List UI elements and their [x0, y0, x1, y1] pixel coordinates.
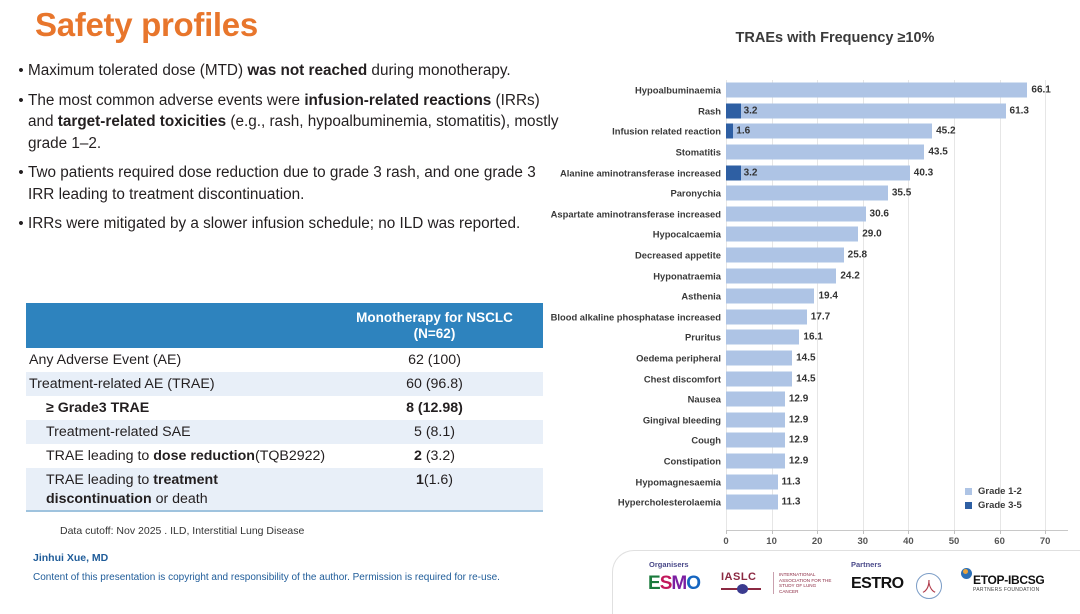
etop-wordmark: ETOP-IBCSG: [973, 573, 1044, 587]
chart-total-value-label: 25.8: [848, 250, 867, 261]
text-run: (1.6): [424, 472, 453, 488]
chart-legend-label: Grade 1-2: [978, 486, 1022, 497]
bullet-dot-icon: •: [14, 90, 28, 155]
chart-x-tick-label: 50: [949, 536, 960, 547]
text-run: Treatment-related SAE: [46, 424, 191, 440]
chart-grade35-value-label: 1.6: [736, 126, 750, 137]
bullet-dot-icon: •: [14, 162, 28, 205]
chart-x-tick-label: 30: [858, 536, 869, 547]
chart-plot-area: Hypoalbuminaemia66.1Rash3.261.3Infusion …: [600, 80, 1080, 530]
text-emphasis: 2: [414, 448, 422, 464]
chart-category-label: Hypoalbuminaemia: [635, 85, 721, 96]
chart-category-label: Constipation: [664, 455, 721, 466]
chart-x-tick-label: 70: [1040, 536, 1051, 547]
chart-bar-track: 24.2: [726, 265, 1080, 286]
chart-bar-row: Blood alkaline phosphatase increased17.7: [600, 307, 1080, 328]
chart-x-tick: [772, 530, 773, 534]
chart-stacked-bar[interactable]: [726, 289, 814, 304]
chart-bar-row: Chest discomfort14.5: [600, 368, 1080, 389]
chart-bar-segment-grade-1-2[interactable]: [726, 371, 792, 386]
chart-bar-row: Hypoalbuminaemia66.1: [600, 80, 1080, 101]
chart-bar-segment-grade-1-2[interactable]: [733, 124, 932, 139]
table-cell-label: Treatment-related SAE: [26, 424, 326, 440]
table-header-cell-monotherapy: Monotherapy for NSCLC (N=62): [326, 310, 543, 342]
chart-bar-track: 25.8: [726, 245, 1080, 266]
chart-bar-track: 35.5: [726, 183, 1080, 204]
chart-category-label: Hypomagnesaemia: [636, 476, 721, 487]
chart-stacked-bar[interactable]: [726, 371, 792, 386]
chart-x-tick: [1000, 530, 1001, 534]
chart-bar-track: 12.9: [726, 451, 1080, 472]
chart-stacked-bar[interactable]: [726, 124, 932, 139]
chart-bar-track: 11.3: [726, 492, 1080, 513]
chart-category-label: Hypocalcaemia: [653, 229, 721, 240]
chart-total-value-label: 17.7: [811, 311, 830, 322]
bullet-dot-icon: •: [14, 213, 28, 235]
table-cell-label: TRAE leading to dose reduction(TQB2922): [26, 448, 326, 464]
chart-stacked-bar[interactable]: [726, 453, 785, 468]
chart-total-value-label: 11.3: [782, 476, 801, 487]
chart-bar-row: Pruritus16.1: [600, 327, 1080, 348]
text-emphasis: dose reduction: [153, 448, 255, 464]
bullet-dot-icon: •: [14, 60, 28, 82]
chart-bar-row: Decreased appetite25.8: [600, 245, 1080, 266]
table-header-line2: (N=62): [326, 326, 543, 342]
esmo-logo: ESMO: [648, 573, 700, 595]
chart-stacked-bar[interactable]: [726, 474, 778, 489]
chart-total-value-label: 14.5: [796, 353, 815, 364]
table-cell-label: Treatment-related AE (TRAE): [26, 376, 326, 392]
chart-title: TRAEs with Frequency ≥10%: [600, 30, 1070, 46]
chart-total-value-label: 12.9: [789, 394, 808, 405]
text-run: The most common adverse events were: [28, 92, 304, 109]
chart-category-label: Pruritus: [685, 332, 721, 343]
table-cell-label: Any Adverse Event (AE): [26, 352, 326, 368]
chart-bar-track: 14.5: [726, 348, 1080, 369]
table-cell-label: TRAE leading to treatment discontinuatio…: [26, 471, 326, 509]
chart-stacked-bar[interactable]: [726, 309, 807, 324]
chart-bar-segment-grade-3-5[interactable]: [726, 165, 741, 180]
chart-bar-row: Paronychia35.5: [600, 183, 1080, 204]
chart-category-label: Hyponatraemia: [653, 270, 721, 281]
chart-total-value-label: 43.5: [928, 147, 947, 158]
chart-bar-segment-grade-1-2[interactable]: [726, 351, 792, 366]
chart-x-tick: [908, 530, 909, 534]
chart-total-value-label: 29.0: [862, 229, 881, 240]
etop-dot-icon: [961, 568, 972, 579]
chart-total-value-label: 12.9: [789, 435, 808, 446]
chart-x-tick: [954, 530, 955, 534]
partners-caption: Partners: [851, 560, 881, 569]
table-row: Treatment-related AE (TRAE)60 (96.8): [26, 372, 543, 396]
chart-stacked-bar[interactable]: [726, 412, 785, 427]
chart-legend: Grade 1-2Grade 3-5: [965, 486, 1022, 514]
chart-total-value-label: 19.4: [818, 291, 837, 302]
chart-bar-segment-grade-1-2[interactable]: [726, 206, 866, 221]
chart-x-tick-label: 20: [812, 536, 823, 547]
bullet-item: •The most common adverse events were inf…: [14, 90, 559, 155]
copyright-note: Content of this presentation is copyrigh…: [33, 572, 500, 583]
chart-bar-row: Oedema peripheral14.5: [600, 348, 1080, 369]
chart-bar-segment-grade-1-2[interactable]: [726, 289, 814, 304]
chart-x-tick: [863, 530, 864, 534]
text-run: Two patients required dose reduction due…: [28, 164, 536, 203]
chart-category-label: Cough: [691, 435, 721, 446]
data-cutoff-note: Data cutoff: Nov 2025 . ILD, Interstitia…: [60, 525, 304, 537]
chart-bar-row: Rash3.261.3: [600, 101, 1080, 122]
chart-bar-row: Nausea12.9: [600, 389, 1080, 410]
chart-category-label: Hypercholesterolaemia: [618, 497, 721, 508]
chart-bar-track: 11.3: [726, 471, 1080, 492]
chart-bar-row: Stomatitis43.5: [600, 142, 1080, 163]
table-body: Any Adverse Event (AE)62 (100)Treatment-…: [26, 348, 543, 510]
adverse-events-table: Monotherapy for NSCLC (N=62) Any Adverse…: [26, 303, 543, 512]
chart-bar-track: 30.6: [726, 204, 1080, 225]
chart-bar-row: Gingival bleeding12.9: [600, 410, 1080, 431]
chart-total-value-label: 11.3: [782, 497, 801, 508]
chart-stacked-bar[interactable]: [726, 83, 1027, 98]
chart-total-value-label: 61.3: [1010, 105, 1029, 116]
traes-chart-panel: TRAEs with Frequency ≥10% Hypoalbuminaem…: [600, 0, 1080, 614]
etop-subtitle: PARTNERS FOUNDATION: [973, 587, 1044, 593]
chart-total-value-label: 24.2: [840, 270, 859, 281]
text-run: Treatment-related AE (TRAE): [29, 376, 215, 392]
chart-bar-segment-grade-1-2[interactable]: [726, 412, 785, 427]
chart-category-label: Rash: [698, 105, 721, 116]
chart-bar-segment-grade-1-2[interactable]: [726, 227, 858, 242]
chart-bar-segment-grade-1-2[interactable]: [726, 433, 785, 448]
bullet-text: Maximum tolerated dose (MTD) was not rea…: [28, 60, 559, 82]
text-emphasis: target-related toxicities: [58, 113, 226, 130]
chart-stacked-bar[interactable]: [726, 227, 858, 242]
chart-bar-segment-grade-1-2[interactable]: [726, 474, 778, 489]
chart-bar-row: Infusion related reaction1.645.2: [600, 121, 1080, 142]
chart-total-value-label: 35.5: [892, 188, 911, 199]
chart-stacked-bar[interactable]: [726, 206, 866, 221]
chart-bar-segment-grade-1-2[interactable]: [726, 495, 778, 510]
chart-bar-row: Asthenia19.4: [600, 286, 1080, 307]
chart-category-label: Infusion related reaction: [612, 126, 721, 137]
chart-legend-item[interactable]: Grade 1-2: [965, 486, 1022, 497]
chart-bar-row: Alanine aminotransferase increased3.240.…: [600, 162, 1080, 183]
chart-bar-segment-grade-1-2[interactable]: [726, 309, 807, 324]
esmo-letter-m: M: [671, 573, 686, 594]
chart-stacked-bar[interactable]: [726, 433, 785, 448]
iaslc-logo: IASLC INTERNATIONAL ASSOCIATION FOR THE …: [721, 571, 761, 594]
author-name: Jinhui Xue, MD: [33, 552, 108, 564]
chart-bar-row: Aspartate aminotransferase increased30.6: [600, 204, 1080, 225]
esmo-letter-s: S: [660, 573, 672, 594]
text-run: TRAE leading to: [46, 472, 153, 488]
chart-stacked-bar[interactable]: [726, 330, 799, 345]
table-cell-value: 60 (96.8): [326, 376, 543, 392]
estro-wordmark: ESTRO: [851, 575, 904, 592]
table-header-line1: Monotherapy for NSCLC: [326, 310, 543, 326]
table-cell-value: 2 (3.2): [326, 448, 543, 464]
chart-bar-track: 19.4: [726, 286, 1080, 307]
chart-stacked-bar[interactable]: [726, 351, 792, 366]
text-run: or death: [152, 491, 208, 507]
chart-legend-swatch: [965, 488, 972, 495]
chart-grade35-value-label: 3.2: [744, 105, 758, 116]
partner-circle-logo-icon: [916, 573, 942, 599]
bullet-item: •Maximum tolerated dose (MTD) was not re…: [14, 60, 559, 82]
bullet-list: •Maximum tolerated dose (MTD) was not re…: [14, 60, 559, 243]
chart-bar-track: 12.9: [726, 430, 1080, 451]
text-run: IRRs were mitigated by a slower infusion…: [28, 215, 520, 232]
chart-category-label: Stomatitis: [676, 147, 721, 158]
table-row: TRAE leading to dose reduction(TQB2922)2…: [26, 444, 543, 468]
chart-bar-track: 12.9: [726, 389, 1080, 410]
chart-bar-segment-grade-1-2[interactable]: [726, 186, 888, 201]
table-cell-value: 5 (8.1): [326, 424, 543, 440]
chart-grade35-value-label: 3.2: [744, 167, 758, 178]
text-emphasis: 1: [416, 472, 424, 488]
text-emphasis: infusion-related reactions: [304, 92, 491, 109]
chart-stacked-bar[interactable]: [726, 495, 778, 510]
left-content-column: Safety profiles •Maximum tolerated dose …: [0, 0, 600, 614]
table-header-row: Monotherapy for NSCLC (N=62): [26, 303, 543, 348]
chart-x-tick: [1045, 530, 1046, 534]
chart-bar-segment-grade-3-5[interactable]: [726, 124, 733, 139]
bullet-text: IRRs were mitigated by a slower infusion…: [28, 213, 559, 235]
chart-category-label: Blood alkaline phosphatase increased: [551, 311, 721, 322]
chart-bar-segment-grade-1-2[interactable]: [726, 453, 785, 468]
chart-category-label: Asthenia: [681, 291, 721, 302]
estro-logo: ESTRO: [851, 575, 904, 593]
chart-bar-segment-grade-1-2[interactable]: [741, 165, 910, 180]
chart-bar-track: 12.9: [726, 410, 1080, 431]
chart-bar-track: 16.1: [726, 327, 1080, 348]
text-emphasis: was not reached: [247, 62, 367, 79]
iaslc-subtitle: INTERNATIONAL ASSOCIATION FOR THE STUDY …: [773, 572, 835, 594]
chart-bar-segment-grade-1-2[interactable]: [726, 145, 924, 160]
chart-category-label: Paronychia: [670, 188, 721, 199]
chart-stacked-bar[interactable]: [726, 392, 785, 407]
table-bottom-rule: [26, 510, 543, 512]
chart-category-label: Chest discomfort: [644, 373, 721, 384]
chart-bar-track: 3.261.3: [726, 101, 1080, 122]
chart-legend-swatch: [965, 502, 972, 509]
slide-footer: Organisers Partners ESMO IASLC INTERNATI…: [612, 550, 1080, 614]
chart-legend-item[interactable]: Grade 3-5: [965, 500, 1022, 511]
bullet-text: Two patients required dose reduction due…: [28, 162, 559, 205]
chart-bar-track: 17.7: [726, 307, 1080, 328]
chart-bar-track: 29.0: [726, 224, 1080, 245]
chart-category-label: Gingival bleeding: [643, 414, 721, 425]
organisers-caption: Organisers: [649, 560, 689, 569]
chart-x-axis-line: [726, 530, 1068, 531]
text-run: during monotherapy.: [367, 62, 510, 79]
chart-x-tick-label: 60: [994, 536, 1005, 547]
chart-bar-track: 66.1: [726, 80, 1080, 101]
chart-x-tick: [817, 530, 818, 534]
table-row: Any Adverse Event (AE)62 (100): [26, 348, 543, 372]
chart-bar-segment-grade-1-2[interactable]: [726, 268, 836, 283]
chart-bar-segment-grade-1-2[interactable]: [741, 103, 1006, 118]
chart-stacked-bar[interactable]: [726, 103, 1006, 118]
chart-total-value-label: 66.1: [1031, 85, 1050, 96]
etop-ibcsg-logo: ETOP-IBCSG PARTNERS FOUNDATION: [961, 573, 1044, 593]
chart-category-label: Aspartate aminotransferase increased: [551, 208, 721, 219]
table-row: TRAE leading to treatment discontinuatio…: [26, 468, 543, 510]
table-cell-value: 1(1.6): [326, 471, 543, 488]
text-run: (TQB2922): [255, 448, 325, 464]
presentation-slide: Safety profiles •Maximum tolerated dose …: [0, 0, 1080, 614]
chart-bar-track: 3.240.3: [726, 162, 1080, 183]
text-run: TRAE leading to: [46, 448, 153, 464]
text-run: (3.2): [422, 448, 455, 464]
chart-stacked-bar[interactable]: [726, 186, 888, 201]
chart-bar-row: Hyponatraemia24.2: [600, 265, 1080, 286]
text-run: Any Adverse Event (AE): [29, 352, 181, 368]
chart-total-value-label: 14.5: [796, 373, 815, 384]
iaslc-emblem-icon: [721, 584, 761, 594]
chart-stacked-bar[interactable]: [726, 248, 844, 263]
chart-stacked-bar[interactable]: [726, 145, 924, 160]
chart-x-tick-label: 10: [766, 536, 777, 547]
chart-bar-segment-grade-3-5[interactable]: [726, 103, 741, 118]
chart-bar-track: 43.5: [726, 142, 1080, 163]
chart-category-label: Nausea: [688, 394, 721, 405]
esmo-letter-o: O: [686, 573, 700, 594]
chart-bar-track: 1.645.2: [726, 121, 1080, 142]
chart-legend-label: Grade 3-5: [978, 500, 1022, 511]
esmo-letter-e: E: [648, 573, 660, 594]
chart-total-value-label: 30.6: [870, 208, 889, 219]
chart-total-value-label: 16.1: [803, 332, 822, 343]
bullet-item: •Two patients required dose reduction du…: [14, 162, 559, 205]
chart-bar-track: 14.5: [726, 368, 1080, 389]
bullet-text: The most common adverse events were infu…: [28, 90, 559, 155]
chart-x-tick: [726, 530, 727, 534]
chart-bar-segment-grade-1-2[interactable]: [726, 392, 785, 407]
table-cell-value: 8 (12.98): [326, 400, 543, 416]
chart-total-value-label: 45.2: [936, 126, 955, 137]
table-row: Treatment-related SAE5 (8.1): [26, 420, 543, 444]
chart-total-value-label: 12.9: [789, 414, 808, 425]
bullet-item: •IRRs were mitigated by a slower infusio…: [14, 213, 559, 235]
chart-bar-row: Constipation12.9: [600, 451, 1080, 472]
table-cell-label: ≥ Grade3 TRAE: [26, 400, 326, 416]
table-cell-value: 62 (100): [326, 352, 543, 368]
iaslc-wordmark: IASLC: [721, 571, 761, 583]
text-run: Maximum tolerated dose (MTD): [28, 62, 247, 79]
text-emphasis: ≥ Grade3 TRAE: [46, 400, 149, 416]
table-row: ≥ Grade3 TRAE8 (12.98): [26, 396, 543, 420]
chart-bar-segment-grade-1-2[interactable]: [726, 330, 799, 345]
chart-x-tick-label: 0: [723, 536, 728, 547]
chart-category-label: Decreased appetite: [635, 250, 721, 261]
chart-bar-segment-grade-1-2[interactable]: [726, 83, 1027, 98]
chart-category-label: Alanine aminotransferase increased: [560, 167, 721, 178]
chart-bar-segment-grade-1-2[interactable]: [726, 248, 844, 263]
page-title: Safety profiles: [35, 6, 258, 44]
chart-total-value-label: 40.3: [914, 167, 933, 178]
chart-stacked-bar[interactable]: [726, 268, 836, 283]
chart-bar-row: Cough12.9: [600, 430, 1080, 451]
chart-bar-row: Hypocalcaemia29.0: [600, 224, 1080, 245]
chart-total-value-label: 12.9: [789, 455, 808, 466]
chart-category-label: Oedema peripheral: [636, 353, 721, 364]
chart-x-tick-label: 40: [903, 536, 914, 547]
